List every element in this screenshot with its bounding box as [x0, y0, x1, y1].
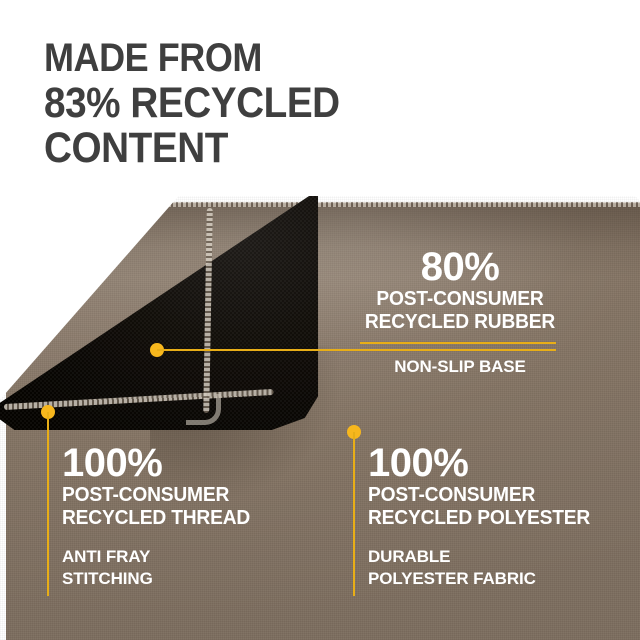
leader-line-thread	[47, 412, 49, 596]
callout-divider	[360, 342, 556, 344]
headline-line-1: MADE FROM	[44, 36, 512, 81]
stitched-edge-corner	[186, 394, 221, 425]
callout-subtitle-line-2: RECYCLED POLYESTER	[368, 507, 590, 530]
callout-detail-line-1: NON-SLIP BASE	[360, 356, 560, 378]
callout-percent: 100%	[368, 442, 599, 484]
callout-subtitle-line-2: RECYCLED THREAD	[62, 507, 250, 530]
leader-line-polyester	[353, 432, 355, 596]
headline-line-3: CONTENT	[44, 126, 512, 171]
page-title: MADE FROM 83% RECYCLED CONTENT	[44, 36, 512, 171]
headline-line-2: 83% RECYCLED	[44, 81, 512, 126]
callout-percent: 80%	[360, 246, 560, 288]
callout-detail-line-2: STITCHING	[62, 568, 258, 590]
callout-detail-line-2: POLYESTER FABRIC	[368, 568, 599, 590]
callout-subtitle-line-1: POST-CONSUMER	[364, 288, 556, 311]
callout-subtitle-line-1: POST-CONSUMER	[368, 484, 590, 507]
callout-detail-line-1: ANTI FRAY	[62, 546, 258, 568]
callout-detail-line-1: DURABLE	[368, 546, 599, 568]
callout-recycled-thread: 100% POST-CONSUMER RECYCLED THREAD ANTI …	[62, 442, 258, 590]
callout-subtitle-line-2: RECYCLED RUBBER	[364, 311, 556, 334]
callout-recycled-polyester: 100% POST-CONSUMER RECYCLED POLYESTER DU…	[368, 442, 599, 590]
callout-subtitle-line-1: POST-CONSUMER	[62, 484, 250, 507]
callout-percent: 100%	[62, 442, 258, 484]
infographic-canvas: MADE FROM 83% RECYCLED CONTENT 80% POST-…	[0, 0, 640, 640]
callout-recycled-rubber: 80% POST-CONSUMER RECYCLED RUBBER NON-SL…	[360, 246, 560, 378]
